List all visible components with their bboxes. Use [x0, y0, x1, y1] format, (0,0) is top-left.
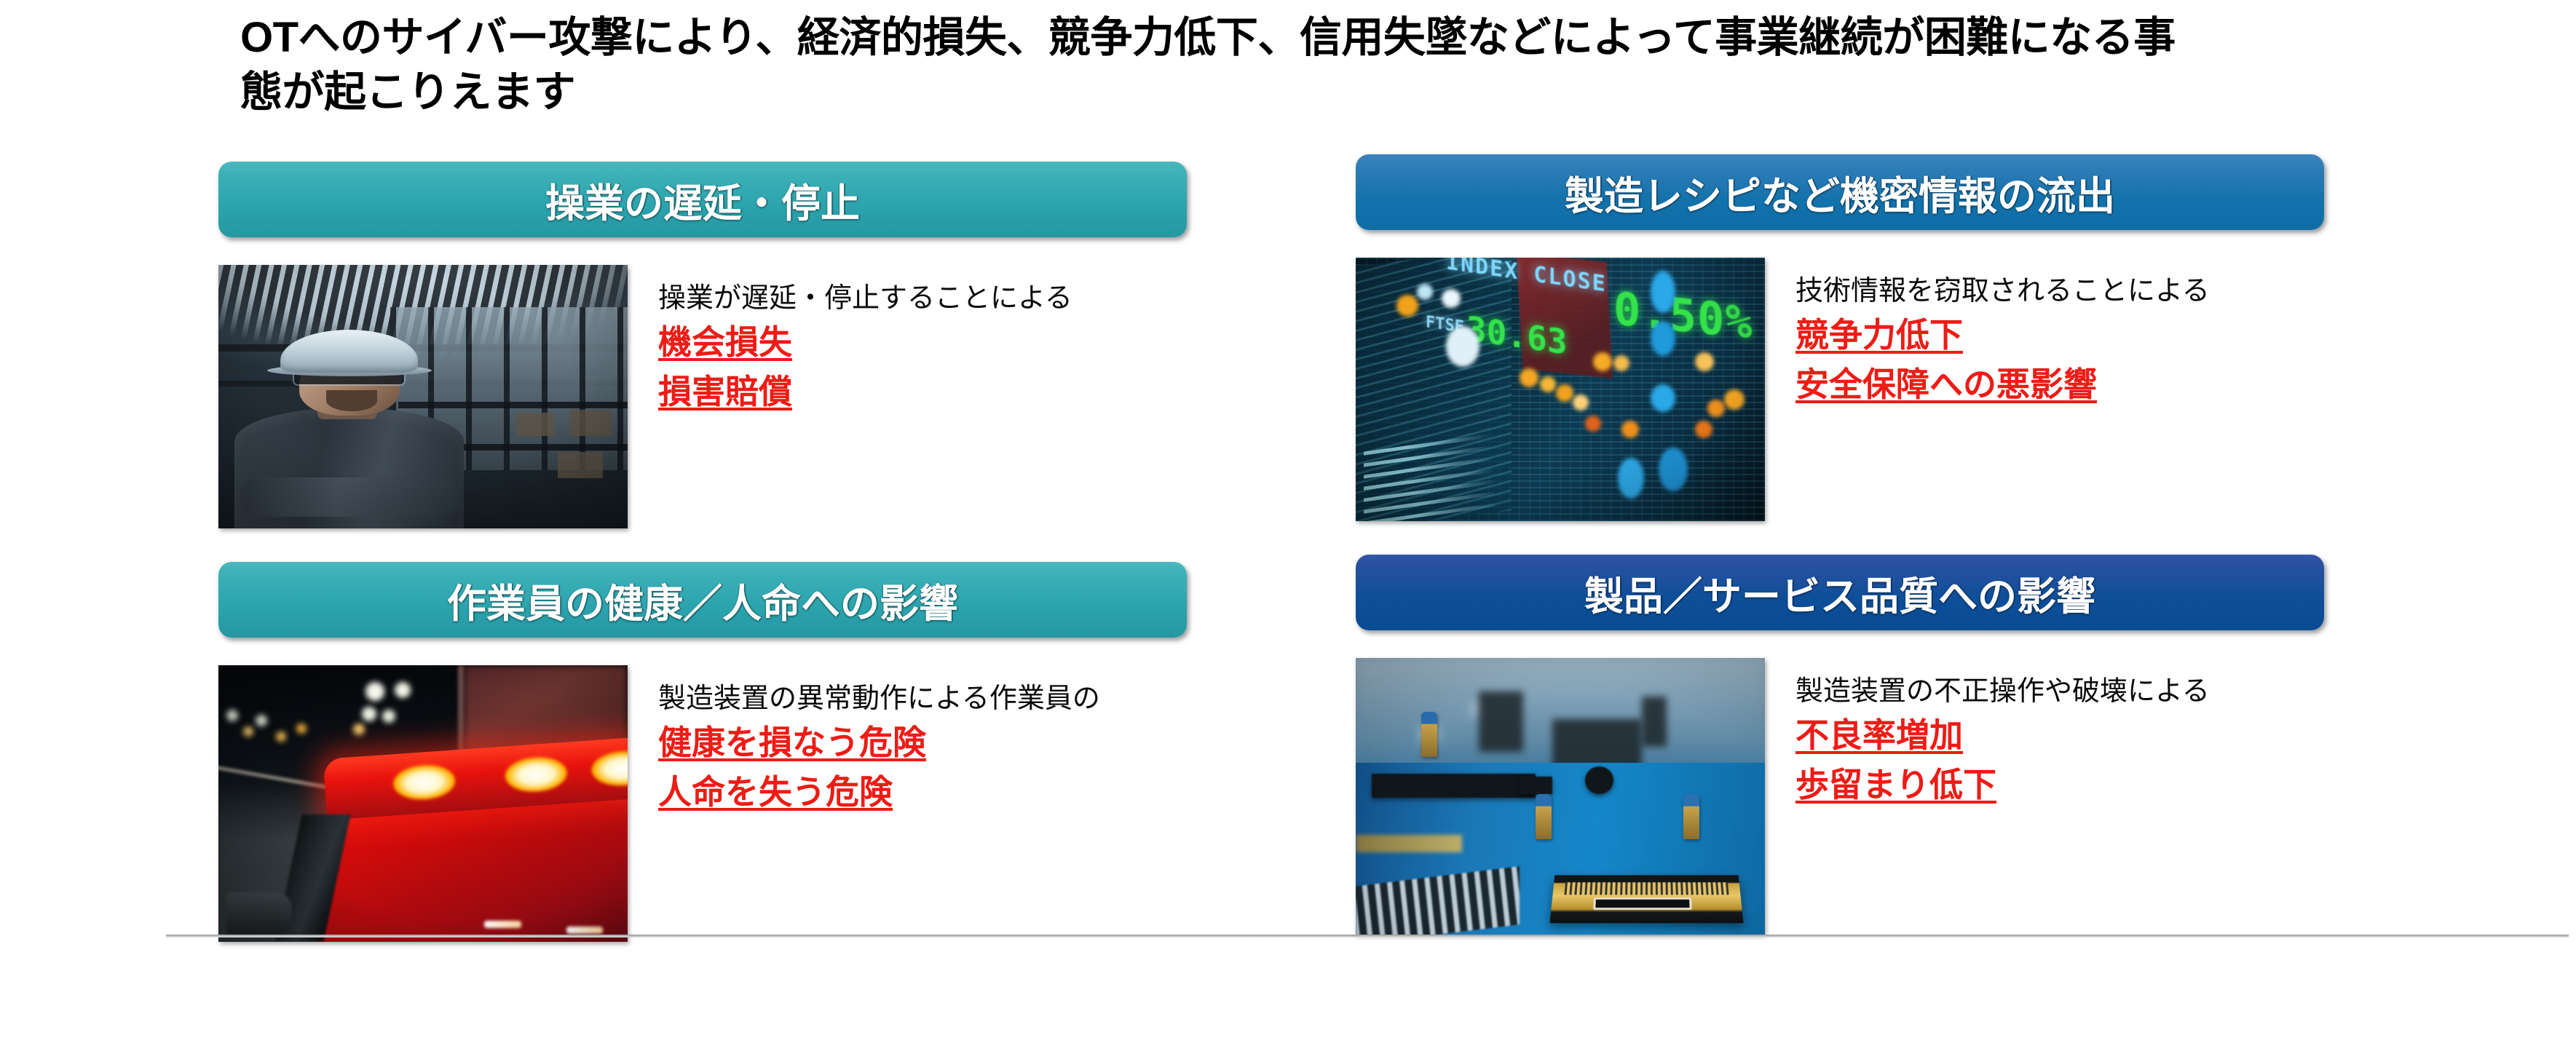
photo-vignette	[218, 265, 628, 528]
card-text-block: 技術情報を窃取されることによる 競争力低下 安全保障への悪影響	[1795, 258, 2210, 406]
page-title-line-2: 態が起こりえます	[240, 68, 575, 116]
police-car-night-photo	[218, 665, 628, 942]
card-banner-worker-safety[interactable]: 作業員の健康／人命への影響	[218, 562, 1187, 638]
stock-ticker-photo: INDEX CLOSE FTSE ▲ 30.63 0.50%	[1356, 258, 1765, 521]
card-body: 製造装置の不正操作や破壊による 不良率増加 歩留まり低下	[1356, 658, 2331, 935]
card-lead-text: 製造装置の異常動作による作業員の	[658, 683, 1100, 715]
slide-bottom-divider	[166, 935, 2569, 937]
risk-card-operation-delay: 操業の遅延・停止	[218, 162, 1194, 528]
card-lead-text: 操業が遅延・停止することによる	[658, 282, 1072, 315]
card-banner-label: 製造レシピなど機密情報の流出	[1565, 164, 2115, 221]
card-highlight-2: 人命を失う危険	[658, 771, 1100, 814]
card-highlight-1: 不良率増加	[1795, 714, 2210, 758]
card-body: INDEX CLOSE FTSE ▲ 30.63 0.50%	[1356, 258, 2331, 521]
risk-card-confidential-leak: 製造レシピなど機密情報の流出 INDEX CLOSE FTSE ▲ 30.63 …	[1356, 154, 2331, 521]
page-title-line-1: OTへのサイバー攻撃により、経済的損失、競争力低下、信用失墜などによって事業継続…	[240, 10, 2366, 65]
card-banner-label: 製品／サービス品質への影響	[1584, 564, 2095, 622]
card-body: 製造装置の異常動作による作業員の 健康を損なう危険 人命を失う危険	[218, 665, 1194, 942]
card-highlight-2: 損害賠償	[658, 370, 1072, 414]
card-highlight-2: 歩留まり低下	[1795, 764, 2210, 807]
card-banner-label: 作業員の健康／人命への影響	[447, 571, 958, 629]
circuit-board-photo	[1356, 658, 1765, 935]
photo-vignette	[1356, 258, 1765, 521]
card-banner-operation-delay[interactable]: 操業の遅延・停止	[218, 162, 1187, 237]
card-text-block: 製造装置の異常動作による作業員の 健康を損なう危険 人命を失う危険	[658, 665, 1100, 814]
card-lead-text: 製造装置の不正操作や破壊による	[1795, 675, 2210, 708]
risk-card-worker-safety: 作業員の健康／人命への影響	[218, 562, 1194, 942]
card-highlight-1: 機会損失	[658, 321, 1072, 365]
card-text-block: 操業が遅延・停止することによる 機会損失 損害賠償	[658, 265, 1072, 413]
card-banner-label: 操業の遅延・停止	[545, 171, 860, 229]
card-text-block: 製造装置の不正操作や破壊による 不良率増加 歩留まり低下	[1795, 658, 2210, 806]
factory-worker-photo	[218, 265, 628, 528]
page-title: OTへのサイバー攻撃により、経済的損失、競争力低下、信用失墜などによって事業継続…	[240, 10, 2366, 120]
slide-canvas: OTへのサイバー攻撃により、経済的損失、競争力低下、信用失墜などによって事業継続…	[0, 0, 2576, 1051]
card-highlight-1: 競争力低下	[1795, 314, 2210, 357]
card-lead-text: 技術情報を窃取されることによる	[1795, 275, 2210, 308]
risk-card-product-quality: 製品／サービス品質への影響	[1356, 555, 2331, 935]
card-highlight-1: 健康を損なう危険	[658, 721, 1100, 765]
card-banner-confidential-leak[interactable]: 製造レシピなど機密情報の流出	[1356, 154, 2324, 230]
photo-vignette	[1356, 658, 1765, 935]
card-body: 操業が遅延・停止することによる 機会損失 損害賠償	[218, 265, 1194, 528]
card-banner-product-quality[interactable]: 製品／サービス品質への影響	[1356, 555, 2324, 630]
card-highlight-2: 安全保障への悪影響	[1795, 363, 2210, 407]
photo-vignette	[218, 665, 628, 942]
